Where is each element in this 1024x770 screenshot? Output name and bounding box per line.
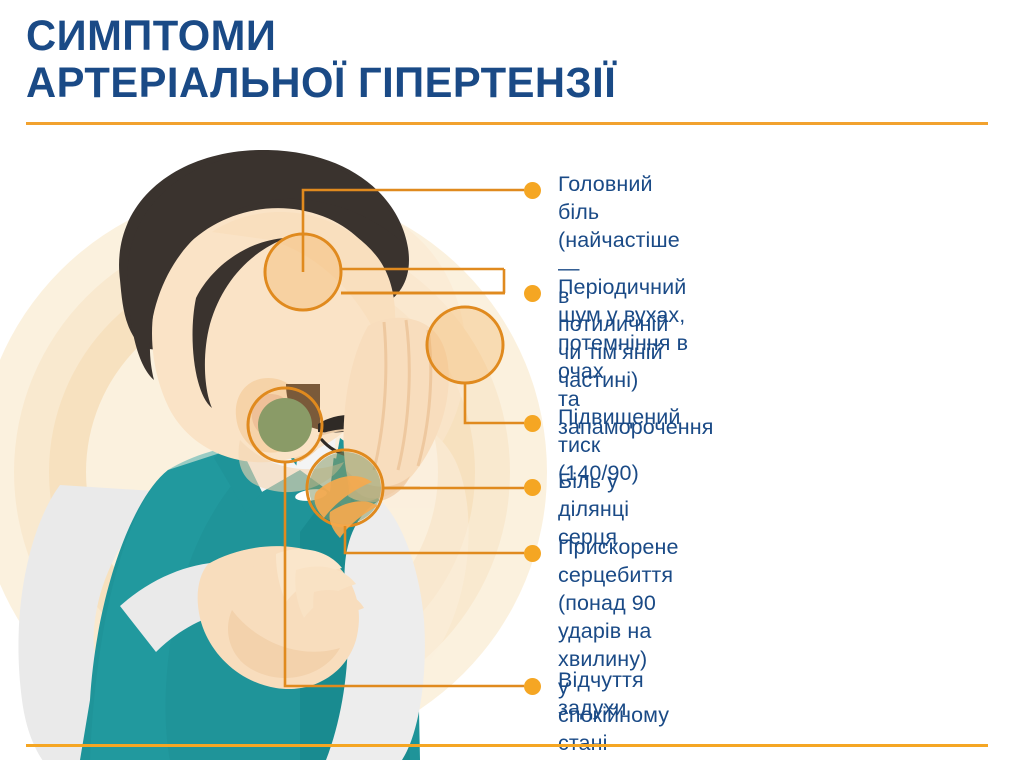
callout-bullet-icon xyxy=(524,285,541,302)
callout-bullet-icon xyxy=(524,415,541,432)
highlight-circle-temple xyxy=(427,307,503,383)
callout-bullet-icon xyxy=(524,479,541,496)
highlight-circle-heart xyxy=(248,388,322,462)
page-title: СИМПТОМИ АРТЕРІАЛЬНОЇ ГІПЕРТЕНЗІЇ xyxy=(26,13,986,107)
callout-bullet-icon xyxy=(524,182,541,199)
title-line-2: АРТЕРІАЛЬНОЇ ГІПЕРТЕНЗІЇ xyxy=(26,60,957,107)
callout-text-shortness-of-breath: Відчуття задухи xyxy=(558,666,644,722)
callout-bullet-icon xyxy=(524,545,541,562)
title-line-1: СИМПТОМИ xyxy=(26,13,957,60)
callout-text-fast-heartbeat: Прискорене серцебиття (понад 90 ударів н… xyxy=(558,533,679,757)
highlight-circle-ear xyxy=(265,234,341,310)
footer-divider-rule xyxy=(26,744,988,747)
title-divider-rule xyxy=(26,122,988,125)
infographic-poster: СИМПТОМИ АРТЕРІАЛЬНОЇ ГІПЕРТЕНЗІЇ xyxy=(0,0,1024,770)
illustration-man-with-hypertension xyxy=(0,140,560,760)
callout-bullet-icon xyxy=(524,678,541,695)
